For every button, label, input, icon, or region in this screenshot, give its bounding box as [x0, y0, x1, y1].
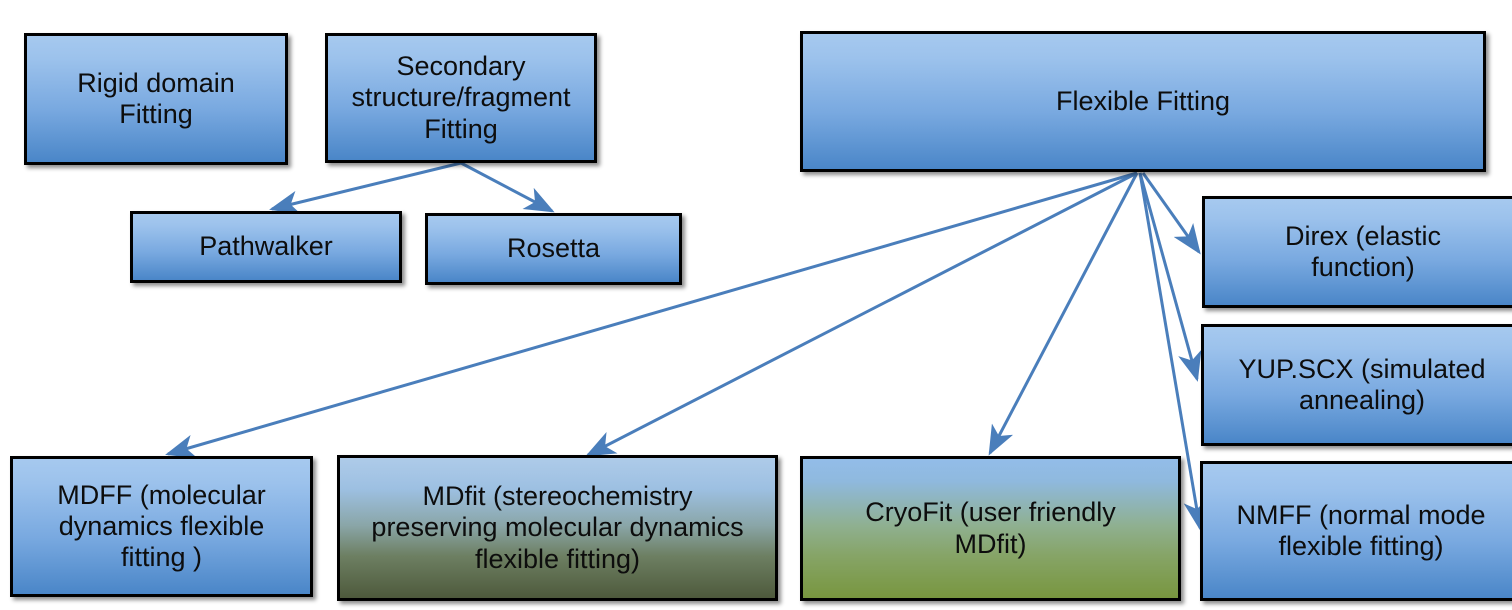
- node-yup-scx[interactable]: YUP.SCX (simulated annealing): [1201, 324, 1512, 446]
- arrow-flexible-to-direx: [1143, 173, 1199, 252]
- node-nmff[interactable]: NMFF (normal mode flexible fitting): [1200, 461, 1512, 601]
- node-label-pathwalker: Pathwalker: [141, 231, 391, 262]
- node-mdff[interactable]: MDFF (molecular dynamics flexible fittin…: [10, 456, 313, 597]
- node-label-yup-scx: YUP.SCX (simulated annealing): [1212, 354, 1512, 417]
- arrow-secondary-to-pathwalker: [272, 163, 461, 209]
- node-label-rosetta: Rosetta: [436, 233, 671, 264]
- node-label-mdfit: MDfit (stereochemistry preserving molecu…: [348, 481, 767, 575]
- node-direx[interactable]: Direx (elastic function): [1202, 196, 1512, 308]
- node-cryofit[interactable]: CryoFit (user friendly MDfit): [800, 456, 1181, 601]
- node-label-rigid-domain-fitting: Rigid domain Fitting: [35, 68, 277, 131]
- diagram-canvas: Rigid domain FittingSecondary structure/…: [0, 0, 1512, 610]
- node-label-nmff: NMFF (normal mode flexible fitting): [1211, 500, 1511, 563]
- node-label-flexible-fitting: Flexible Fitting: [811, 86, 1475, 117]
- node-label-direx: Direx (elastic function): [1213, 221, 1512, 284]
- node-label-secondary-structure-fragment-fitting: Secondary structure/fragment Fitting: [336, 51, 586, 145]
- arrow-flexible-to-yupscx: [1140, 173, 1197, 379]
- node-flexible-fitting[interactable]: Flexible Fitting: [800, 31, 1486, 172]
- node-rosetta[interactable]: Rosetta: [425, 213, 682, 285]
- arrow-secondary-to-rosetta: [461, 163, 552, 211]
- node-pathwalker[interactable]: Pathwalker: [130, 211, 402, 283]
- node-rigid-domain-fitting[interactable]: Rigid domain Fitting: [24, 33, 288, 165]
- node-label-mdff: MDFF (molecular dynamics flexible fittin…: [21, 480, 302, 574]
- arrow-flexible-to-cryofit: [990, 173, 1137, 453]
- node-label-cryofit: CryoFit (user friendly MDfit): [811, 497, 1170, 560]
- node-mdfit[interactable]: MDfit (stereochemistry preserving molecu…: [337, 455, 778, 601]
- node-secondary-structure-fragment-fitting[interactable]: Secondary structure/fragment Fitting: [325, 33, 597, 163]
